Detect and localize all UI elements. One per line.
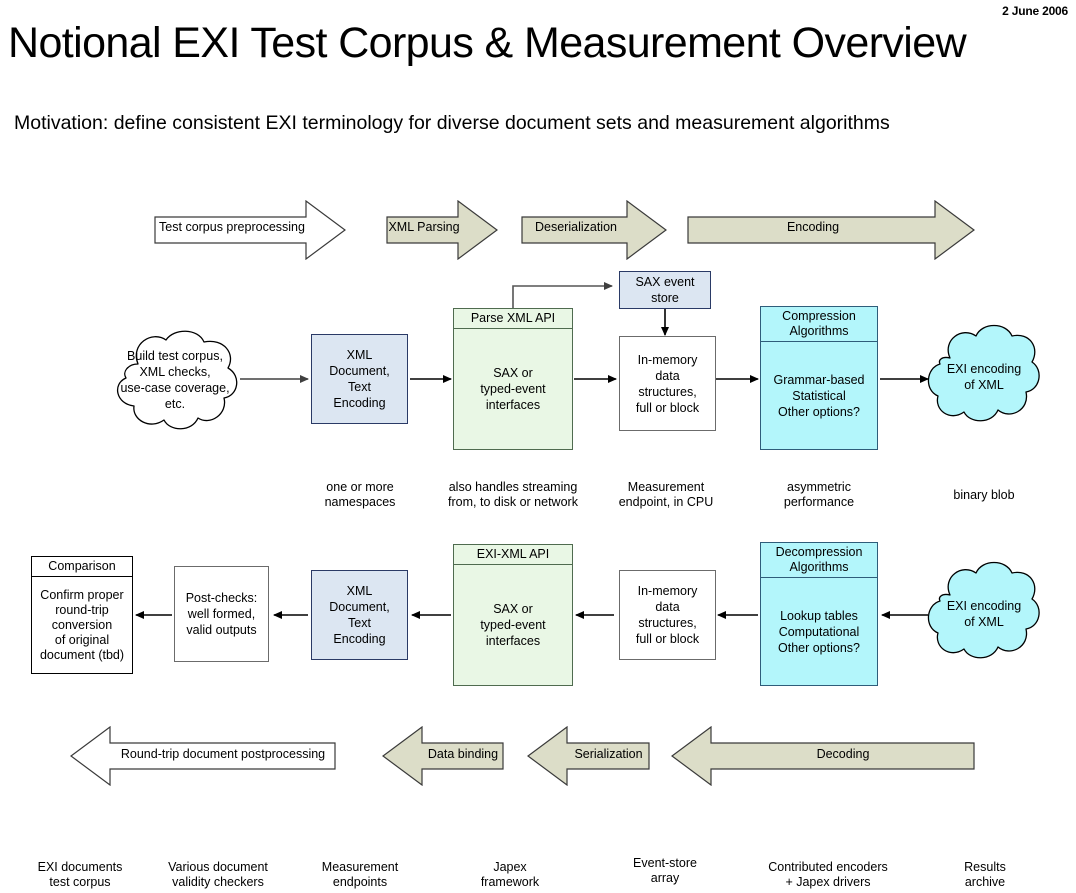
- block-arrow-data-binding[interactable]: Data binding: [382, 726, 504, 786]
- arrow-shape-left: [527, 726, 650, 786]
- box-body: Confirm proper round-trip conversion of …: [32, 577, 132, 673]
- caption-namespaces: one or more namespaces: [299, 480, 421, 510]
- box-body: Grammar-based Statistical Other options?: [761, 342, 877, 449]
- cloud-build-test-corpus: Build test corpus, XML checks, use-case …: [108, 326, 242, 440]
- caption-measurement-endpoint: Measurement endpoint, in CPU: [598, 480, 734, 510]
- arrow-shape-right: [386, 200, 498, 260]
- cloud-shape: [926, 555, 1042, 671]
- block-arrow-serialization[interactable]: Serialization: [527, 726, 650, 786]
- cloud-shape: [926, 318, 1042, 434]
- block-arrow-xml-parsing[interactable]: XML Parsing: [386, 200, 498, 260]
- arrow-shape-right: [521, 200, 667, 260]
- box-sax-event-store: SAX event store: [619, 271, 711, 309]
- box-body: SAX or typed-event interfaces: [454, 329, 572, 449]
- box-header: EXI-XML API: [454, 545, 572, 565]
- box-label: Post-checks: well formed, valid outputs: [183, 590, 261, 638]
- box-parse-xml-api: Parse XML API SAX or typed-event interfa…: [453, 308, 573, 450]
- box-label: XML Document, Text Encoding: [326, 347, 392, 411]
- box-header: Compression Algorithms: [761, 307, 877, 342]
- caption-japex-framework: Japex framework: [455, 860, 565, 890]
- caption-streaming: also handles streaming from, to disk or …: [430, 480, 596, 510]
- caption-contributed-encoders: Contributed encoders + Japex drivers: [748, 860, 908, 890]
- motivation-text: Motivation: define consistent EXI termin…: [14, 112, 890, 135]
- caption-measurement-endpoints: Measurement endpoints: [298, 860, 422, 890]
- block-arrow-test-corpus-preprocessing[interactable]: Test corpus preprocessing: [154, 200, 346, 260]
- caption-exi-documents-test-corpus: EXI documents test corpus: [18, 860, 142, 890]
- diagram-canvas: 2 June 2006 Notional EXI Test Corpus & M…: [0, 0, 1076, 893]
- box-label: XML Document, Text Encoding: [326, 583, 392, 647]
- box-header: Comparison: [32, 557, 132, 577]
- block-arrow-decoding[interactable]: Decoding: [671, 726, 975, 786]
- cloud-exi-encoding-encode: EXI encoding of XML: [926, 318, 1042, 434]
- box-header: Parse XML API: [454, 309, 572, 329]
- cloud-exi-encoding-decode: EXI encoding of XML: [926, 555, 1042, 671]
- cloud-shape: [108, 326, 242, 440]
- block-arrow-deserialization[interactable]: Deserialization: [521, 200, 667, 260]
- document-date: 2 June 2006: [1002, 4, 1068, 18]
- box-comparison: Comparison Confirm proper round-trip con…: [31, 556, 133, 674]
- block-arrow-encoding[interactable]: Encoding: [687, 200, 975, 260]
- arrow-shape-left: [70, 726, 336, 786]
- caption-results-archive: Results archive: [940, 860, 1030, 890]
- caption-binary-blob: binary blob: [926, 488, 1042, 503]
- caption-validity-checkers: Various document validity checkers: [150, 860, 286, 890]
- arrow-shape-right: [687, 200, 975, 260]
- arrow-shape-right: [154, 200, 346, 260]
- caption-event-store-array: Event-store array: [610, 856, 720, 886]
- box-header: Decompression Algorithms: [761, 543, 877, 578]
- box-post-checks: Post-checks: well formed, valid outputs: [174, 566, 269, 662]
- box-in-memory-decode: In-memory data structures, full or block: [619, 570, 716, 660]
- box-label: In-memory data structures, full or block: [633, 352, 702, 416]
- page-title: Notional EXI Test Corpus & Measurement O…: [8, 18, 966, 68]
- box-body: Lookup tables Computational Other option…: [761, 578, 877, 685]
- block-arrow-round-trip-postprocessing[interactable]: Round-trip document postprocessing: [70, 726, 336, 786]
- box-exi-xml-api: EXI-XML API SAX or typed-event interface…: [453, 544, 573, 686]
- box-compression-algorithms: Compression Algorithms Grammar-based Sta…: [760, 306, 878, 450]
- box-xml-document-decode: XML Document, Text Encoding: [311, 570, 408, 660]
- box-label: SAX event store: [632, 274, 697, 306]
- box-body: SAX or typed-event interfaces: [454, 565, 572, 685]
- box-label: In-memory data structures, full or block: [633, 583, 702, 647]
- caption-asymmetric-performance: asymmetric performance: [760, 480, 878, 510]
- box-xml-document-encode: XML Document, Text Encoding: [311, 334, 408, 424]
- arrow-shape-left: [382, 726, 504, 786]
- box-decompression-algorithms: Decompression Algorithms Lookup tables C…: [760, 542, 878, 686]
- arrow-shape-left: [671, 726, 975, 786]
- box-in-memory-encode: In-memory data structures, full or block: [619, 336, 716, 431]
